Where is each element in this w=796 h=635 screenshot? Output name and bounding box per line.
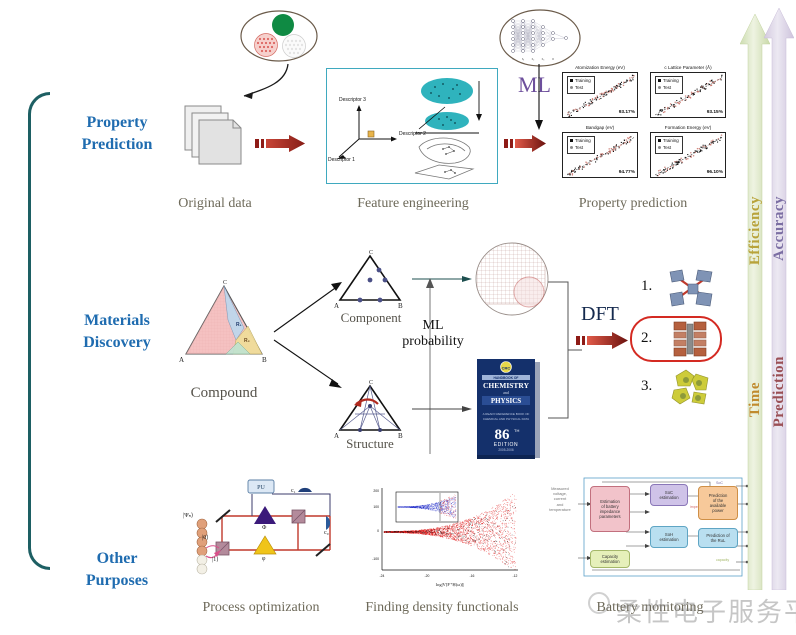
plot-accuracy: 96.10% xyxy=(707,170,723,175)
ml-down-arrow xyxy=(533,64,545,132)
watermark-ring-icon xyxy=(588,592,610,614)
caption-process-optimization: Process optimization xyxy=(168,600,354,616)
process-optimization-diagram: PU |Ψₙ⟩ |0⟩ |1⟩ Φ φ c₁ c₀ xyxy=(180,478,340,588)
quantum-state-psi-label: |Ψₙ⟩ xyxy=(183,512,193,519)
svg-text:C: C xyxy=(369,380,373,386)
figure-canvas: Property Prediction Materials Discovery … xyxy=(0,0,796,635)
caption-original-data: Original data xyxy=(150,196,280,212)
battery-box-soc-estimation: SoC estimation xyxy=(650,484,688,506)
arrow-prediction-accuracy-line1: Prediction xyxy=(771,356,788,427)
svg-text:B: B xyxy=(398,302,403,310)
ml-probability-label: ML probability xyxy=(390,318,476,350)
plot-bandgap: Bandgap (eV) Training Test 94.77% xyxy=(562,132,638,178)
descriptor-1-label: Descriptor 1 xyxy=(328,157,355,163)
search-space-grid-circle xyxy=(473,238,551,320)
structure-triangle: C A B xyxy=(334,378,406,440)
ml-probability-arrow xyxy=(424,278,436,456)
caption-property-prediction: Property prediction xyxy=(556,196,710,212)
svg-text:O: O xyxy=(552,57,554,61)
original-data-documents-icon xyxy=(183,104,245,166)
phase-phi-capital-label: Φ xyxy=(262,525,266,531)
svg-text:200: 200 xyxy=(373,489,379,493)
dft-label: DFT xyxy=(581,303,619,326)
plot-formation-energy: Formation Energy (eV) Training Test 96.1… xyxy=(650,132,726,178)
detector-c0-label: c₀ xyxy=(324,530,329,536)
component-to-grid-arrow xyxy=(412,272,474,286)
sphere-green xyxy=(272,14,294,36)
arrow-prediction-accuracy-line2: Accuracy xyxy=(771,196,788,261)
row-label-property-prediction: Property Prediction xyxy=(58,112,176,155)
caption-finding-density-functionals: Finding density functionals xyxy=(346,600,538,616)
svg-text:A READY-REFERENCE BOOK OF: A READY-REFERENCE BOOK OF xyxy=(483,412,530,416)
battery-box-soh-estimation: SoH estimation xyxy=(650,526,688,548)
plot-title: Atomization Energy (eV) xyxy=(563,65,637,70)
candidate-2-index: 2. xyxy=(641,330,652,347)
svg-text:-24: -24 xyxy=(380,574,385,578)
original-sample-ellipse xyxy=(239,8,319,70)
svg-text:100: 100 xyxy=(373,505,379,509)
ml-probability-line1: ML xyxy=(390,318,476,334)
svg-text:0: 0 xyxy=(377,529,379,533)
crc-handbook-book: CRC HANDBOOK OF CHEMISTRY and PHYSICS A … xyxy=(474,355,542,460)
ml-probability-line2: probability xyxy=(390,334,476,350)
svg-text:-16: -16 xyxy=(470,574,475,578)
arrow-time-efficiency-line2: Efficiency xyxy=(747,196,764,265)
svg-text:log|V[F⁺Ḥ(ω)]|: log|V[F⁺Ḥ(ω)]| xyxy=(436,582,465,587)
quantum-state-0-label: |0⟩ xyxy=(202,534,209,541)
feature-engineering-panel: Descriptor 3 Descriptor 2 Descriptor 1 xyxy=(326,68,498,184)
arrow-time-efficiency-line1: Time xyxy=(747,382,764,417)
row-label-line1: Other xyxy=(97,550,138,567)
battery-box-rul-prediction: Prediction of the RuL xyxy=(698,528,738,548)
svg-text:HANDBOOK OF: HANDBOOK OF xyxy=(494,376,519,380)
svg-text:PHYSICS: PHYSICS xyxy=(491,397,521,405)
svg-text:and: and xyxy=(503,390,509,395)
row-label-line2: Prediction xyxy=(58,134,176,156)
plot-title: Bandgap (eV) xyxy=(563,125,637,130)
structure-to-book-arrow xyxy=(412,402,474,416)
candidate-1-structure-icon xyxy=(664,266,718,310)
svg-text:capacity: capacity xyxy=(716,558,729,562)
svg-text:TH: TH xyxy=(514,428,519,433)
svg-text:86: 86 xyxy=(495,427,511,443)
svg-text:-12: -12 xyxy=(513,574,518,578)
caption-compound: Compound xyxy=(166,385,282,402)
flow-arrow-data-to-features xyxy=(255,133,307,153)
battery-box-available-power: Prediction of the available power xyxy=(698,486,738,520)
quantum-state-1-label: |1⟩ xyxy=(212,556,219,563)
svg-text:B: B xyxy=(262,356,267,364)
plot-title: c Lattice Parameter (Å) xyxy=(651,65,725,70)
svg-text:h₃: h₃ xyxy=(542,57,545,61)
candidate-1-index: 1. xyxy=(641,278,652,295)
caption-structure: Structure xyxy=(318,436,422,452)
descriptor-3-label: Descriptor 3 xyxy=(339,97,366,103)
row-label-line2: Purposes xyxy=(58,570,176,592)
phase-phi-small-label: φ xyxy=(262,556,265,562)
row-label-other-purposes: Other Purposes xyxy=(58,548,176,591)
svg-text:C: C xyxy=(223,280,227,286)
candidate-2-structure-icon xyxy=(668,318,714,360)
svg-text:PU: PU xyxy=(257,485,265,491)
row-label-materials-discovery: Materials Discovery xyxy=(58,310,176,353)
svg-text:CHEMISTRY: CHEMISTRY xyxy=(483,381,530,390)
flow-arrow-dft-to-candidates xyxy=(576,330,630,350)
plot-atomization-energy: Atomization Energy (eV) Training Test 93… xyxy=(562,72,638,118)
svg-text:SoC: SoC xyxy=(716,481,723,485)
row-label-line1: Materials xyxy=(84,312,150,329)
svg-text:CHEMICAL AND PHYSICAL DATA: CHEMICAL AND PHYSICAL DATA xyxy=(483,417,529,421)
property-prediction-plot-grid: Atomization Energy (eV) Training Test 93… xyxy=(556,62,734,184)
candidate-3-structure-icon xyxy=(666,366,716,410)
svg-text:CRC: CRC xyxy=(502,366,511,371)
descriptor-2-label: Descriptor 2 xyxy=(399,131,426,137)
plot-title: Formation Energy (eV) xyxy=(651,125,725,130)
flow-arrow-features-to-prediction xyxy=(504,133,548,153)
watermark-text: 柔性电子服务平台 xyxy=(616,592,796,629)
plot-accuracy: 93.17% xyxy=(619,110,635,115)
svg-text:R₂: R₂ xyxy=(244,338,250,344)
arrow-prediction-accuracy xyxy=(764,8,794,590)
caption-feature-engineering: Feature engineering xyxy=(336,196,490,212)
svg-text:A: A xyxy=(179,356,184,364)
svg-text:A: A xyxy=(334,302,339,310)
ml-neural-network-ellipse: Ih₁h₂h₃O xyxy=(499,8,581,70)
svg-text:-100: -100 xyxy=(372,557,379,561)
svg-text:C: C xyxy=(369,250,373,256)
battery-box-capacity-estimation: Capacity estimation xyxy=(590,550,630,568)
svg-text:R₁: R₁ xyxy=(236,322,242,328)
detector-c1-label: c₁ xyxy=(291,488,296,494)
row-label-line2: Discovery xyxy=(58,332,176,354)
svg-text:h₁: h₁ xyxy=(522,57,524,61)
sphere-red xyxy=(255,34,278,57)
left-bracket xyxy=(28,92,50,570)
plot-c-lattice-parameter: c Lattice Parameter (Å) Training Test 93… xyxy=(650,72,726,118)
battery-box-impedance: Estimation of battery impedance paramete… xyxy=(590,486,630,532)
plot-accuracy: 93.15% xyxy=(707,110,723,115)
component-triangle: C A B xyxy=(334,248,406,310)
svg-text:2005-2006: 2005-2006 xyxy=(498,448,513,452)
density-functionals-plot: -24 -20 -16 -12 -100 0 100 200 log|V[F⁺Ḥ… xyxy=(362,484,522,588)
candidate-3-index: 3. xyxy=(641,378,652,395)
compound-ternary-diagram: R₁ R₂ C A B xyxy=(178,280,270,366)
plot-accuracy: 94.77% xyxy=(619,170,635,175)
svg-text:-20: -20 xyxy=(425,574,430,578)
battery-monitoring-flowchart: impedance parameters SoC available power… xyxy=(540,474,752,582)
battery-input-label: Measured voltage, current and temperatur… xyxy=(542,486,578,512)
row-label-line1: Property xyxy=(86,114,147,131)
svg-text:h₂: h₂ xyxy=(532,57,534,61)
